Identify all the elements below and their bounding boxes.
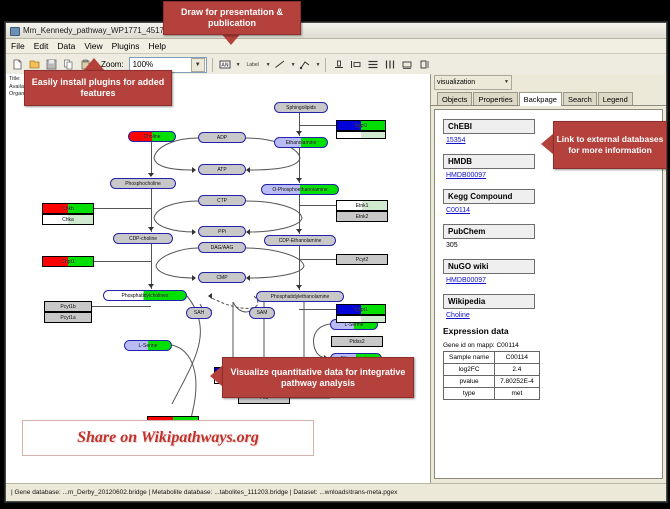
arrowhead	[148, 284, 154, 288]
node-label: Chka	[62, 217, 74, 223]
node-label: CTP	[217, 198, 227, 204]
node-label: Ptdss2	[349, 339, 364, 345]
metabolite-node[interactable]: Phosphatidylethanolamine	[256, 291, 344, 302]
node-label: Cept1	[354, 307, 367, 313]
node-label: CDP-Ethanolamine	[279, 238, 322, 244]
datanode-tool-icon[interactable]: AN	[218, 57, 233, 72]
pathvisio-app-icon	[10, 26, 19, 35]
db-link-hmdb[interactable]: HMDB00097	[446, 172, 654, 179]
edge	[151, 189, 152, 232]
title-bar: Mm_Kennedy_pathway_WP1771_45176.gpml	[6, 23, 666, 39]
arrowhead	[296, 178, 302, 182]
share-banner-text: Share on Wikipathways.org	[77, 429, 259, 447]
metabolite-node[interactable]: SAM	[249, 307, 275, 319]
distribute-horizontal-icon[interactable]	[382, 57, 397, 72]
node-label: Etnk2	[356, 214, 369, 220]
node-label: DAG/AAG	[211, 245, 234, 251]
arrowhead	[192, 229, 196, 235]
set-common-width-icon[interactable]	[399, 57, 414, 72]
metabolite-node[interactable]: Phosphatidylcholines	[103, 290, 187, 301]
metabolite-node[interactable]: CTP	[198, 195, 246, 206]
screenshot-root: Mm_Kennedy_pathway_WP1771_45176.gpml Fil…	[0, 0, 670, 509]
metabolite-node[interactable]: Phosphocholine	[110, 178, 176, 189]
db-header-pubchem: PubChem	[443, 224, 535, 239]
db-value-pubchem: 305	[446, 242, 654, 249]
gene-node[interactable]: Etnk1	[336, 200, 388, 211]
menu-item-plugins[interactable]: Plugins	[112, 41, 140, 51]
zoom-value: 100%	[133, 60, 153, 69]
arrowhead	[246, 229, 250, 235]
node-label: Sphingolipids	[286, 105, 316, 111]
metabolite-node[interactable]: Choline	[128, 131, 176, 142]
arrowhead	[192, 275, 196, 281]
visualization-combo[interactable]: visualization ▼	[434, 75, 512, 90]
node-label: CMP	[216, 275, 227, 281]
gene-node[interactable]: Etnk2	[336, 211, 388, 222]
node-label: SAH	[194, 310, 204, 316]
db-link-nugo[interactable]: HMDB00097	[446, 277, 654, 284]
status-bar: | Gene database: ...m_Derby_20120602.bri…	[6, 483, 666, 501]
arrowhead	[148, 227, 154, 231]
metabolite-node[interactable]: ATP	[198, 164, 246, 175]
svg-text:AN: AN	[222, 63, 229, 69]
arrowhead	[296, 285, 302, 289]
node-label: L-Serine	[345, 322, 364, 328]
gene-node[interactable]: Chpt1	[42, 256, 94, 267]
arrowhead	[296, 229, 302, 233]
metabolite-node[interactable]: Ethanolamine	[274, 137, 328, 148]
row-value: 2.4	[495, 364, 540, 376]
menu-item-file[interactable]: File	[11, 41, 25, 51]
node-label: ADP	[217, 135, 227, 141]
edge	[94, 208, 151, 209]
chevron-down-icon[interactable]: ▼	[191, 58, 205, 72]
arrowhead	[208, 293, 212, 299]
set-common-height-icon[interactable]	[416, 57, 431, 72]
edge	[299, 205, 336, 206]
callout-draw-text: Draw for presentation & publication	[164, 7, 300, 29]
node-label: Phosphatidylcholines	[122, 293, 169, 299]
node-label: CDP-choline	[129, 236, 157, 242]
menu-bar: File Edit Data View Plugins Help	[6, 39, 666, 54]
db-header-nugo: NuGO wiki	[443, 259, 535, 274]
visualization-row: visualization ▼	[431, 74, 666, 90]
arrowhead	[296, 131, 302, 135]
menu-item-data[interactable]: Data	[57, 41, 75, 51]
row-value: C00114	[495, 352, 540, 364]
arrowhead	[246, 167, 250, 173]
callout-plugins: Easily install plugins for added feature…	[24, 70, 172, 106]
interaction-dropdown-icon[interactable]: ▼	[316, 62, 321, 68]
node-label: O-Phosphoethanolamine	[272, 187, 327, 193]
row-key: type	[444, 388, 495, 400]
metabolite-node[interactable]: DAG/AAG	[198, 242, 246, 253]
db-link-kegg[interactable]: C00114	[446, 207, 654, 214]
node-label: Sgpl1	[355, 123, 368, 129]
node-label: PPi	[218, 229, 226, 235]
callout-visualize-text: Visualize quantitative data for integrat…	[223, 367, 413, 389]
menu-item-help[interactable]: Help	[149, 41, 166, 51]
db-header-chebi: ChEBI	[443, 119, 535, 134]
callout-plugins-text: Easily install plugins for added feature…	[25, 77, 171, 99]
table-row: log2FC 2.4	[444, 364, 540, 376]
edge	[151, 142, 152, 176]
node-label: SAM	[257, 310, 268, 316]
interaction-tool-icon[interactable]	[298, 57, 313, 72]
label-tool-icon[interactable]: Label	[243, 57, 263, 72]
row-key: pvalue	[444, 376, 495, 388]
node-label: Pcyt1b	[60, 304, 75, 310]
toolbar-separator-2	[325, 58, 326, 72]
table-row: Sample name C00114	[444, 352, 540, 364]
node-label: Pcyt1a	[60, 315, 75, 321]
row-key: log2FC	[444, 364, 495, 376]
gene-node[interactable]: Cept1	[336, 304, 386, 315]
gene-node[interactable]: Ptdss2	[331, 336, 383, 347]
node-label: Phosphocholine	[125, 181, 161, 187]
table-row: type met	[444, 388, 540, 400]
label-tool-text: Label	[247, 62, 259, 68]
share-banner: Share on Wikipathways.org	[22, 420, 314, 456]
node-label: L-Serine	[139, 343, 158, 349]
gene-node[interactable]: Pcyt2	[336, 254, 388, 265]
gene-node[interactable]: Sgpl1	[336, 120, 386, 131]
node-label: Choline	[144, 134, 161, 140]
metabolite-node[interactable]: CMP	[198, 272, 246, 283]
tab-properties[interactable]: Properties	[473, 92, 517, 105]
metabolite-node[interactable]: CDP-choline	[113, 233, 173, 244]
metabolite-node[interactable]: Sphingolipids	[274, 102, 328, 113]
edge	[299, 246, 300, 290]
align-left-icon[interactable]	[348, 57, 363, 72]
table-row: pvalue 7.80252E-4	[444, 376, 540, 388]
metabolite-node[interactable]: L-Serine	[124, 340, 172, 351]
db-header-hmdb: HMDB	[443, 154, 535, 169]
chevron-down-icon[interactable]: ▼	[504, 79, 509, 85]
node-label: ATP	[217, 167, 226, 173]
menu-item-view[interactable]: View	[84, 41, 102, 51]
callout-link-text: Link to external databases for more info…	[554, 134, 666, 156]
arrowhead	[246, 275, 250, 281]
db-link-wikipedia[interactable]: Choline	[446, 312, 654, 319]
edge	[299, 309, 336, 310]
gene-node[interactable]: Pcyt1b	[44, 301, 92, 312]
node-label: Pcyt2	[356, 257, 369, 263]
gene-node[interactable]: Pcyt1a	[44, 312, 92, 323]
metabolite-node[interactable]: SAH	[186, 307, 212, 319]
edge	[92, 306, 151, 307]
edge	[299, 259, 336, 260]
edge	[151, 244, 152, 289]
tab-search[interactable]: Search	[563, 92, 597, 105]
expression-data-title: Expression data	[443, 326, 654, 336]
side-panel-tabs: Objects Properties Backpage Search Legen…	[431, 90, 666, 106]
tab-legend[interactable]: Legend	[598, 92, 633, 105]
callout-link: Link to external databases for more info…	[553, 121, 667, 169]
toolbar-separator	[212, 58, 213, 72]
metabolite-node[interactable]: PPi	[198, 226, 246, 237]
line-tool-icon[interactable]	[273, 57, 288, 72]
metabolite-node[interactable]: O-Phosphoethanolamine	[261, 184, 339, 195]
menu-item-edit[interactable]: Edit	[34, 41, 49, 51]
metabolite-node[interactable]: CDP-Ethanolamine	[264, 235, 336, 246]
metabolite-node[interactable]: ADP	[198, 132, 246, 143]
callout-visualize: Visualize quantitative data for integrat…	[222, 357, 414, 398]
tab-objects[interactable]: Objects	[437, 92, 472, 105]
gene-id-line: Gene id on mapp: C00114	[443, 342, 654, 349]
new-file-icon[interactable]	[10, 57, 25, 72]
db-header-kegg: Kegg Compound	[443, 189, 535, 204]
edge	[299, 125, 336, 126]
edge	[94, 261, 151, 262]
align-top-icon[interactable]	[331, 57, 346, 72]
arrowhead	[148, 173, 154, 177]
node-label: Ethanolamine	[286, 140, 317, 146]
distribute-vertical-icon[interactable]	[365, 57, 380, 72]
line-dropdown-icon[interactable]: ▼	[291, 62, 296, 68]
datanode-dropdown-icon[interactable]: ▼	[236, 62, 241, 68]
row-value: 7.80252E-4	[495, 376, 540, 388]
status-text: | Gene database: ...m_Derby_20120602.bri…	[6, 489, 397, 496]
node-label: Etnk1	[356, 203, 369, 209]
row-key: Sample name	[444, 352, 495, 364]
visualization-value: visualization	[437, 79, 475, 86]
gene-node[interactable]: Chkb	[42, 203, 94, 214]
gene-node[interactable]: Chka	[42, 214, 94, 225]
db-header-wikipedia: Wikipedia	[443, 294, 535, 309]
node-label: Phosphatidylethanolamine	[271, 294, 330, 300]
expression-table: Sample name C00114 log2FC 2.4 pvalue 7.8…	[443, 351, 540, 400]
row-value: met	[495, 388, 540, 400]
arrowhead	[192, 167, 196, 173]
node-label: Chkb	[62, 206, 74, 212]
gene-node[interactable]	[336, 131, 386, 139]
label-dropdown-icon[interactable]: ▼	[266, 62, 271, 68]
callout-draw: Draw for presentation & publication	[163, 1, 301, 35]
tab-backpage[interactable]: Backpage	[519, 92, 562, 106]
node-label: Chpt1	[61, 259, 74, 265]
